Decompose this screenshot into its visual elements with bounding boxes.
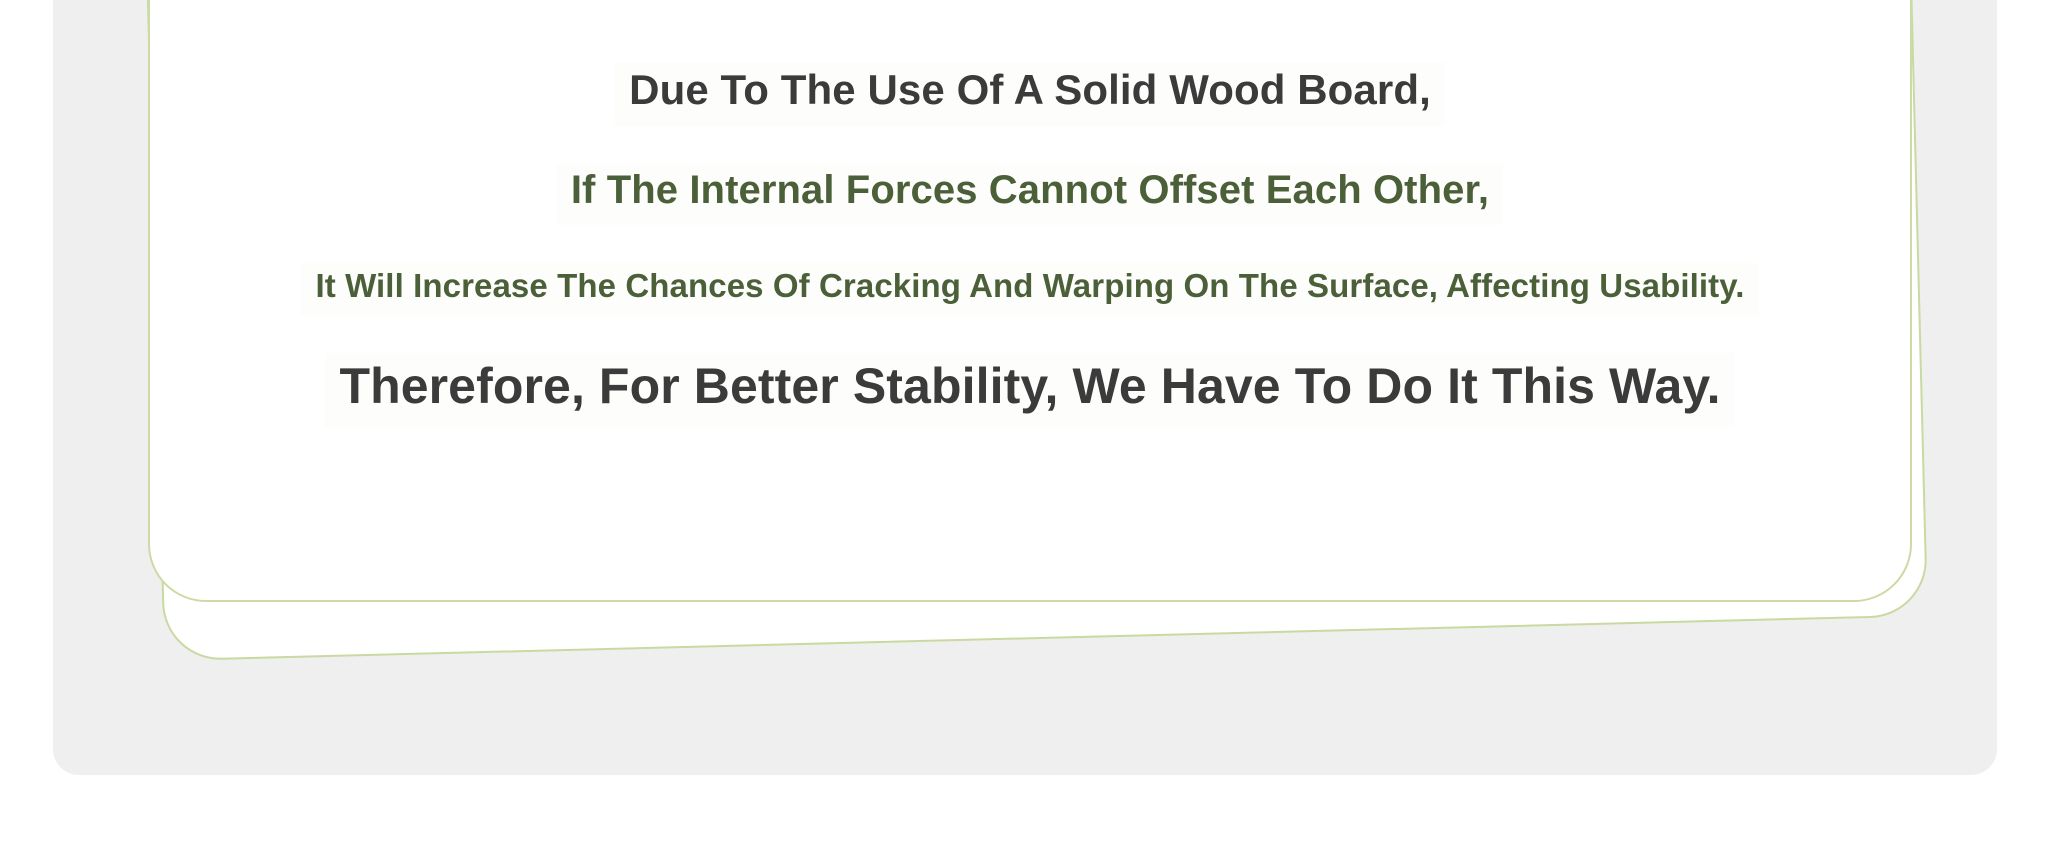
copy-line-2: If The Internal Forces Cannot Offset Eac… bbox=[557, 164, 1503, 225]
copy-line-1: Due To The Use Of A Solid Wood Board, bbox=[615, 62, 1445, 126]
copy-line-4: Therefore, For Better Stability, We Have… bbox=[325, 353, 1734, 427]
product-detail-stage: Due To The Use Of A Solid Wood Board, If… bbox=[0, 0, 2048, 858]
copy-line-3: It Will Increase The Chances Of Cracking… bbox=[301, 263, 1758, 317]
marketing-copy-block: Due To The Use Of A Solid Wood Board, If… bbox=[148, 0, 1912, 530]
